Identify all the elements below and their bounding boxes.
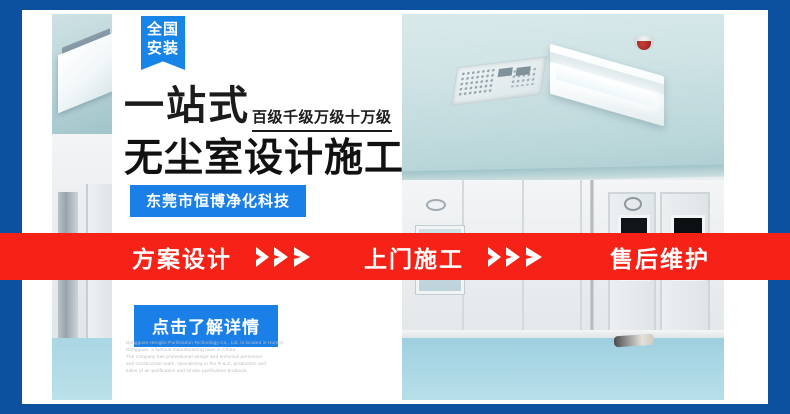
description-line-5: sales of air purification and smoke puri… xyxy=(126,367,326,374)
description-line-2: Dongguan, a famous manufacturing town in… xyxy=(126,346,326,353)
process-step-1: 方案设计 xyxy=(132,240,232,274)
door-vision-ring xyxy=(624,197,642,211)
description-line-3: The company has professional design and … xyxy=(126,353,326,360)
process-steps-band: 方案设计 上门施工 售后维护 xyxy=(0,233,790,280)
promo-banner: 全国 安装 一站式 百级千级万级十万级 无尘室设计施工 东莞市恒博净化科技 方案… xyxy=(0,0,790,414)
floor-skirting xyxy=(402,330,724,338)
main-cleanroom-photo xyxy=(402,14,724,400)
vent-grille-dots xyxy=(457,67,495,98)
smoke-detector-dome xyxy=(637,41,651,50)
headline-line-2: 无尘室设计施工 xyxy=(124,137,404,180)
headline-line-1: 一站式 xyxy=(124,84,250,128)
process-step-3: 售后维护 xyxy=(610,240,710,274)
triple-chevron-right-icon xyxy=(486,246,548,268)
triple-chevron-right-icon xyxy=(254,246,316,268)
company-name-tag: 东莞市恒博净化科技 xyxy=(130,185,306,217)
description-line-4: and construction team, specializing in t… xyxy=(126,360,326,367)
description-line-1: Dongguan Hengbo Purification Technology … xyxy=(126,339,326,346)
cleanliness-grade-note: 百级千级万级十万级 xyxy=(252,106,392,132)
ribbon-line-1: 全国 xyxy=(141,20,185,39)
smoke-detector-icon xyxy=(634,36,654,50)
company-description-paragraph: Dongguan Hengbo Purification Technology … xyxy=(126,339,326,374)
ribbon-line-2: 安装 xyxy=(141,39,185,58)
process-step-2: 上门施工 xyxy=(364,240,464,274)
epoxy-floor xyxy=(402,338,724,400)
